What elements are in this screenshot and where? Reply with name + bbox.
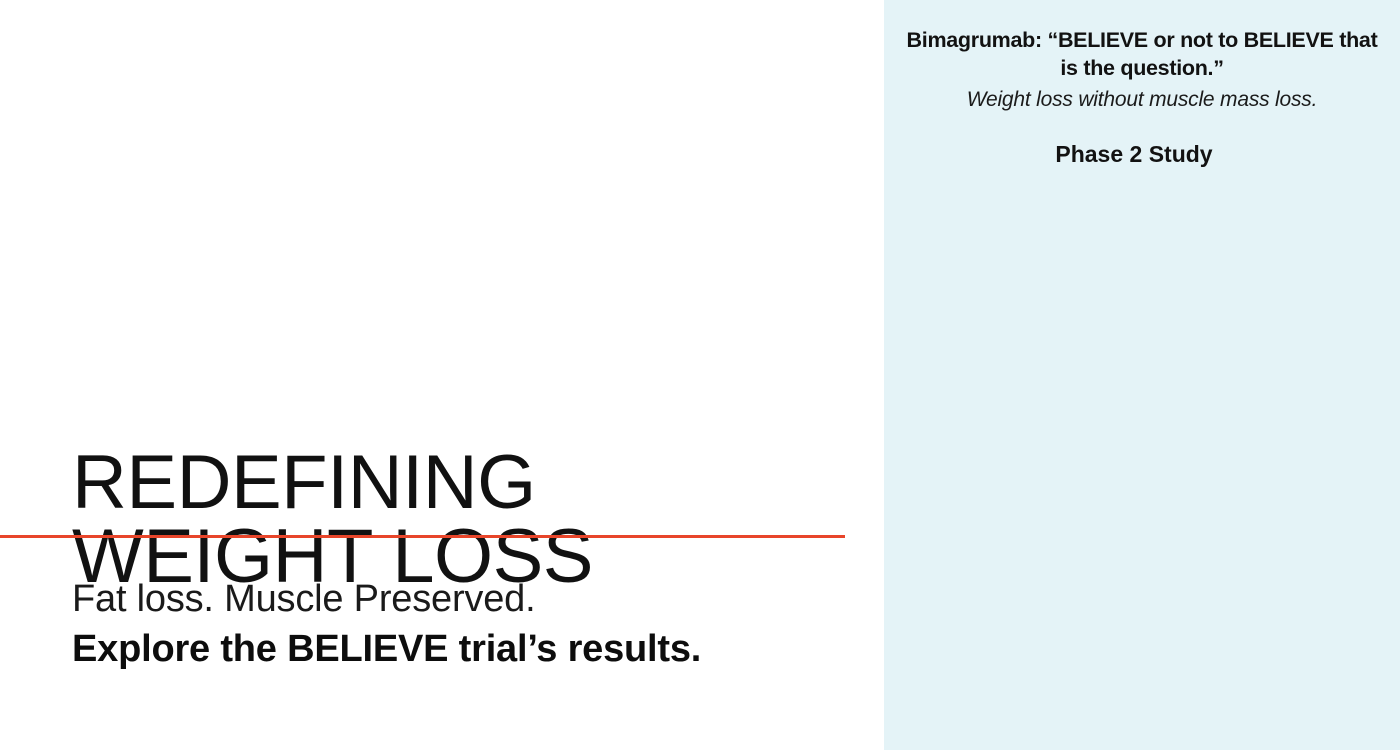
panel-title: Bimagrumab: “BELIEVE or not to BELIEVE t… (896, 26, 1388, 83)
subtitle-regular: Fat loss. Muscle Preserved. (72, 578, 535, 621)
left-panel: REDEFINING WEIGHT LOSS Fat loss. Muscle … (0, 0, 884, 750)
subtitle-bold-cta: Explore the BELIEVE trial’s results. (72, 628, 701, 671)
infographic-root: REDEFINING WEIGHT LOSS Fat loss. Muscle … (0, 0, 1400, 750)
headline-line-1: REDEFINING (72, 440, 536, 525)
panel-subtitle: Weight loss without muscle mass loss. (896, 88, 1388, 112)
divider-rule (0, 535, 845, 538)
section-heading-phase-2-study: Phase 2 Study (1004, 141, 1264, 168)
right-panel: Bimagrumab: “BELIEVE or not to BELIEVE t… (884, 0, 1400, 750)
